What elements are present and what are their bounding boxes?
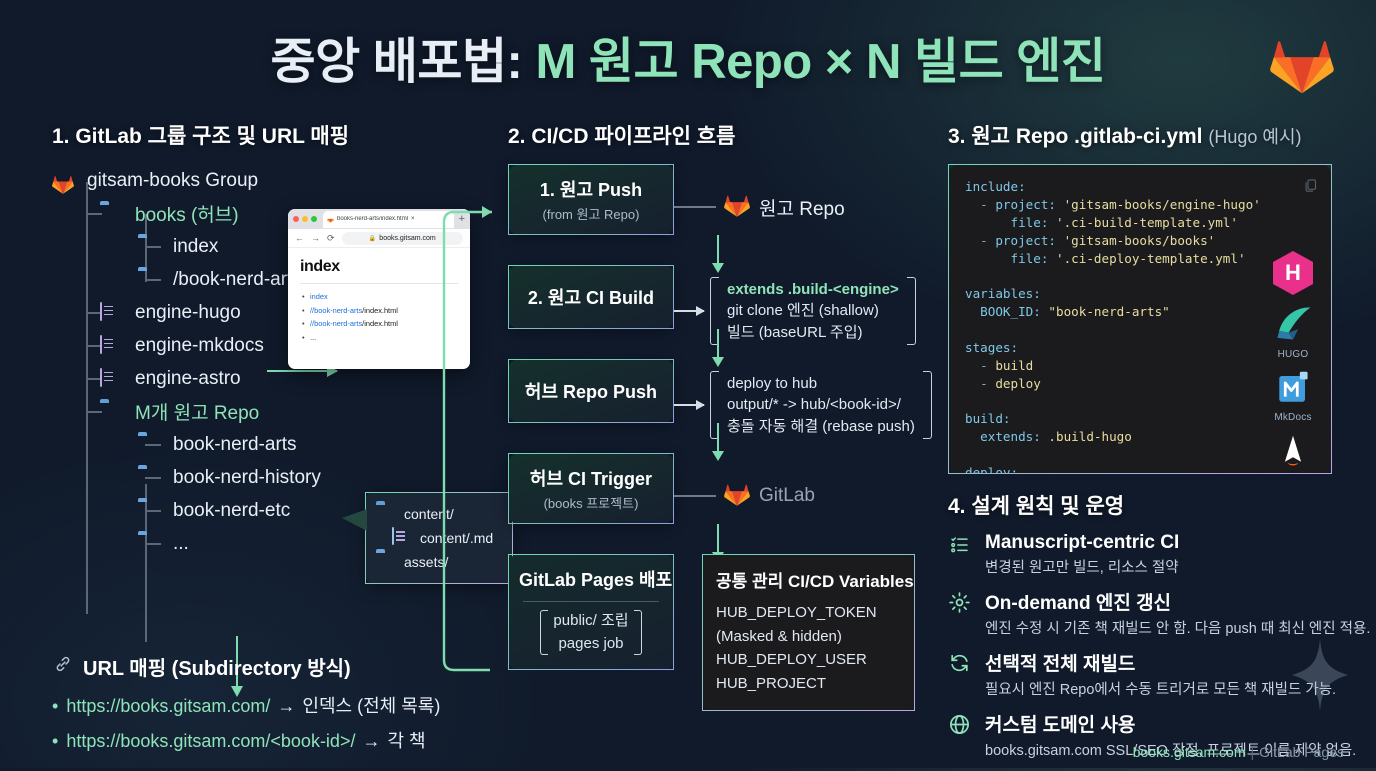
infographic-page: 중앙 배포법: M 원고 Repo × N 빌드 엔진 1. GitLab 그룹…	[0, 0, 1376, 768]
tree-label-manuscript-repos: M개 원고 Repo	[135, 398, 259, 425]
bracket-right	[923, 371, 932, 439]
url-value[interactable]: https://books.gitsam.com/<book-id>/	[66, 731, 355, 752]
principle-row: Manuscript-centric CI 변경된 원고만 빌드, 리소스 절약	[948, 532, 1344, 577]
pipeline-step-4-wrap: 허브 CI Trigger (books 프로젝트) GitLab	[508, 453, 928, 524]
folder-open-icon	[376, 503, 398, 525]
principle-text: 선택적 전체 재빌드 필요시 엔진 Repo에서 수동 트리거로 모든 책 재빌…	[985, 649, 1336, 699]
step-2-side: extends .build-<engine> git clone 엔진 (sh…	[674, 277, 916, 345]
bracket-right	[907, 277, 916, 345]
tree-row-book-nerd-history[interactable]: book-nerd-history	[52, 461, 492, 494]
tree-label-engine-astro: engine-astro	[135, 368, 241, 390]
file-icon	[100, 335, 126, 357]
gitlab-pages-deploy-box[interactable]: GitLab Pages 배포 public/ 조립 pages job	[508, 554, 674, 670]
pages-line: public/ 조립	[553, 610, 628, 633]
bullet: •	[52, 731, 58, 752]
principle-row: 선택적 전체 재빌드 필요시 엔진 Repo에서 수동 트리거로 모든 책 재빌…	[948, 649, 1344, 699]
gitlab-tanuki-icon	[724, 481, 750, 511]
bracket-lines: extends .build-<engine> git clone 엔진 (sh…	[725, 277, 901, 345]
tree-label-index: index	[173, 236, 218, 258]
pipeline-step-ci-build[interactable]: 2. 원고 CI Build	[508, 265, 674, 329]
pipeline-step-push[interactable]: 1. 원고 Push (from 원고 Repo)	[508, 164, 674, 235]
tree-label-engine-mkdocs: engine-mkdocs	[135, 335, 264, 357]
pipeline-step-hub-trigger[interactable]: 허브 CI Trigger (books 프로젝트)	[508, 453, 674, 524]
footer-product: GitLab Pages	[1259, 744, 1344, 760]
copy-icon[interactable]	[1303, 177, 1318, 199]
side-arrow	[674, 404, 704, 406]
footer: books.gitsam.com|GitLab Pages	[1133, 744, 1344, 760]
tree-label-books: books (허브)	[135, 200, 239, 227]
bracket-right	[634, 610, 642, 655]
variable-line: (Masked & hidden)	[716, 625, 901, 649]
file-icon	[100, 302, 126, 324]
pipeline-connector	[717, 423, 719, 453]
url-mapping-heading-row: URL 매핑 (Subdirectory 방식)	[52, 652, 492, 681]
yaml-code: include: - project: 'gitsam-books/engine…	[965, 178, 1315, 474]
variable-line: HUB_DEPLOY_TOKEN	[716, 601, 901, 625]
hugo-label: HUGO	[1265, 349, 1321, 360]
connector-stub	[674, 206, 716, 208]
hugo-logo-icon: HUGO	[1265, 305, 1321, 360]
pipeline-connector	[717, 329, 719, 359]
connector-stub	[674, 495, 716, 497]
link-rest: /index.html	[362, 306, 398, 315]
url-value[interactable]: https://books.gitsam.com/	[66, 696, 270, 717]
forward-icon[interactable]: →	[311, 233, 320, 243]
link-text: index	[310, 292, 328, 301]
cicd-variables-box[interactable]: 공통 관리 CI/CD Variables HUB_DEPLOY_TOKEN (…	[702, 554, 915, 711]
section-2-heading: 2. CI/CD 파이프라인 흐름	[508, 120, 928, 150]
step-1-side: 원고 Repo	[674, 192, 845, 222]
header: 중앙 배포법: M 원고 Repo × N 빌드 엔진	[0, 18, 1376, 106]
bracket-left	[540, 610, 548, 655]
engine-icon-stack: H HUGO MkDocs	[1265, 251, 1321, 474]
arrow-glyph: →	[277, 696, 295, 717]
folder-icon	[376, 551, 398, 573]
folder-icon	[138, 434, 164, 456]
bracket-line: git clone 엔진 (shallow)	[727, 300, 899, 321]
section-3-heading-main: 3. 원고 Repo .gitlab-ci.yml	[948, 125, 1203, 148]
principle-row: On-demand 엔진 갱신 엔진 수정 시 기존 책 재빌드 안 함. 다음…	[948, 588, 1344, 638]
step-subtitle: (books 프로젝트)	[517, 493, 665, 512]
divider	[523, 601, 659, 602]
mkdocs-logo-icon: MkDocs	[1265, 370, 1321, 423]
gitlab-tanuki-icon	[724, 192, 750, 222]
reload-icon[interactable]: ⟳	[327, 233, 335, 244]
arrow-books-to-browser	[267, 370, 337, 372]
section-4-principles: 4. 설계 원칙 및 운영 Manuscript-centric CI 변경된 …	[948, 490, 1344, 760]
section-3-heading: 3. 원고 Repo .gitlab-ci.yml (Hugo 예시)	[948, 120, 1344, 150]
folder-icon	[100, 203, 126, 225]
step-3-side: deploy to hub output/* -> hub/<book-id>/…	[674, 371, 932, 439]
lock-icon: 🔒	[369, 235, 376, 242]
close-icon[interactable]: ×	[411, 216, 415, 222]
link-text: //book-nerd-arts	[310, 319, 362, 328]
side-arrow	[674, 310, 704, 312]
tree-label-book-nerd-etc: book-nerd-etc	[173, 500, 290, 522]
link-icon	[52, 655, 74, 679]
footer-domain: books.gitsam.com	[1133, 744, 1246, 760]
step-subtitle: (from 원고 Repo)	[517, 204, 665, 223]
section-2-pipeline: 2. CI/CD 파이프라인 흐름 1. 원고 Push (from 원고 Re…	[508, 120, 928, 670]
back-icon[interactable]: ←	[295, 233, 304, 243]
window-dots	[293, 216, 317, 222]
section-3-heading-sub: (Hugo 예시)	[1208, 127, 1301, 147]
hugo-hex-glyph: H	[1273, 251, 1313, 295]
url-mapping-item: • https://books.gitsam.com/<book-id>/ → …	[52, 727, 492, 753]
pages-bracket-lines: public/ 조립 pages job	[553, 610, 628, 655]
astro-logo-icon	[1265, 433, 1321, 474]
pages-line: pages job	[553, 633, 628, 656]
file-icon	[100, 368, 126, 390]
bracket-lines: deploy to hub output/* -> hub/<book-id>/…	[725, 371, 917, 439]
folder-icon	[138, 236, 164, 258]
folder-open-icon	[100, 401, 126, 423]
tree-row-book-nerd-arts[interactable]: book-nerd-arts	[52, 428, 492, 461]
pipeline-final-row: GitLab Pages 배포 public/ 조립 pages job 공통 …	[508, 554, 928, 670]
pipeline-step-hub-push[interactable]: 허브 Repo Push	[508, 359, 674, 423]
step-4-side-label: GitLab	[759, 485, 815, 507]
tree-label-book-nerd-arts: book-nerd-arts	[173, 434, 297, 456]
tree-label-book-nerd-arts-hub: /book-nerd-arts	[173, 269, 302, 291]
arrow-glyph: →	[362, 731, 380, 752]
url-mapping-block: URL 매핑 (Subdirectory 방식) • https://books…	[52, 652, 492, 762]
gitlab-tanuki-icon	[1270, 32, 1334, 94]
pipeline-connector	[717, 524, 719, 554]
folder-icon	[138, 269, 164, 291]
mkdocs-label: MkDocs	[1265, 412, 1321, 423]
hugo-hex-icon: H	[1265, 251, 1321, 295]
principle-text: On-demand 엔진 갱신 엔진 수정 시 기존 책 재빌드 안 함. 다음…	[985, 588, 1370, 638]
gitlab-tanuki-icon	[52, 170, 78, 192]
principle-desc: 필요시 엔진 Repo에서 수동 트리거로 모든 책 재빌드 가능.	[985, 678, 1336, 699]
folder-icon	[138, 467, 164, 489]
folder-icon	[138, 500, 164, 522]
browser-tab-title: books-nerd-arts/index.html	[337, 216, 408, 222]
link-text: ...	[310, 333, 316, 342]
step-title: 1. 원고 Push	[517, 176, 665, 202]
sparkle-decoration	[1292, 639, 1348, 716]
url-desc: 인덱스 (전체 목록)	[302, 692, 440, 718]
footer-separator: |	[1251, 744, 1255, 760]
globe-icon	[948, 710, 974, 760]
link-text: //book-nerd-arts	[310, 306, 362, 315]
principle-title: On-demand 엔진 갱신	[985, 588, 1370, 615]
principle-title: Manuscript-centric CI	[985, 532, 1179, 554]
principle-desc: 엔진 수정 시 기존 책 재빌드 안 함. 다음 push 때 최신 엔진 적용…	[985, 617, 1370, 638]
principle-title: 선택적 전체 재빌드	[985, 649, 1336, 676]
step-title: 허브 Repo Push	[517, 378, 665, 404]
pipeline-connector	[717, 235, 719, 265]
bracket-line: 충돌 자동 해결 (rebase push)	[727, 416, 915, 437]
tree-label-more: ...	[173, 533, 189, 555]
url-desc: 각 책	[387, 727, 425, 753]
tree-row-group[interactable]: gitsam-books Group	[52, 164, 492, 197]
bracket-group: deploy to hub output/* -> hub/<book-id>/…	[710, 371, 932, 439]
folder-icon	[138, 533, 164, 555]
step-title: 허브 CI Trigger	[517, 465, 665, 491]
callout-tail	[342, 509, 367, 531]
title-plain: 중앙 배포법:	[271, 35, 536, 89]
variables-box-title: 공통 관리 CI/CD Variables	[716, 567, 901, 592]
variable-line: HUB_PROJECT	[716, 672, 901, 696]
tree-label-engine-hugo: engine-hugo	[135, 302, 241, 324]
page-title: 중앙 배포법: M 원고 Repo × N 빌드 엔진	[0, 18, 1376, 106]
bullet: •	[52, 696, 58, 717]
bracket-group: extends .build-<engine> git clone 엔진 (sh…	[710, 277, 916, 345]
pipeline-step-3-wrap: 허브 Repo Push deploy to hub output/* -> h…	[508, 359, 928, 423]
list-check-icon	[948, 532, 974, 577]
step-4-side: GitLab	[674, 481, 815, 511]
pipeline-flow: 1. 원고 Push (from 원고 Repo) 원고 Repo 2. 원고 …	[508, 164, 928, 670]
bracket-line: 빌드 (baseURL 주입)	[727, 322, 899, 343]
tree-label-book-nerd-history: book-nerd-history	[173, 467, 321, 489]
section-1-heading: 1. GitLab 그룹 구조 및 URL 매핑	[52, 120, 492, 150]
section-1-group-structure: 1. GitLab 그룹 구조 및 URL 매핑 gitsam-books Gr…	[52, 120, 492, 634]
feedback-loop-connector	[430, 180, 520, 680]
yaml-code-block[interactable]: include: - project: 'gitsam-books/engine…	[948, 164, 1332, 474]
title-accent: M 원고 Repo × N 빌드 엔진	[535, 35, 1105, 89]
step-title: 2. 원고 CI Build	[517, 284, 665, 310]
gear-icon	[948, 588, 974, 638]
pages-box-title: GitLab Pages 배포	[519, 566, 663, 592]
pipeline-step-1-wrap: 1. 원고 Push (from 원고 Repo) 원고 Repo	[508, 164, 928, 235]
address-bar-url: books.gitsam.com	[379, 235, 435, 242]
pages-bracket: public/ 조립 pages job	[519, 610, 663, 655]
bracket-line: extends .build-<engine>	[727, 279, 899, 300]
variable-line: HUB_DEPLOY_USER	[716, 648, 901, 672]
refresh-icon	[948, 649, 974, 699]
principle-desc: 변경된 원고만 빌드, 리소스 절약	[985, 556, 1179, 577]
step-1-side-label: 원고 Repo	[759, 194, 845, 221]
url-mapping-item: • https://books.gitsam.com/ → 인덱스 (전체 목록…	[52, 692, 492, 718]
bracket-line: deploy to hub	[727, 373, 915, 394]
section-4-heading: 4. 설계 원칙 및 운영	[948, 490, 1344, 520]
principle-text: Manuscript-centric CI 변경된 원고만 빌드, 리소스 절약	[985, 532, 1179, 577]
pipeline-step-2-wrap: 2. 원고 CI Build extends .build-<engine> g…	[508, 265, 928, 329]
section-3-yaml: 3. 원고 Repo .gitlab-ci.yml (Hugo 예시) incl…	[948, 120, 1344, 771]
file-icon	[392, 527, 414, 549]
tree-label-group: gitsam-books Group	[87, 170, 258, 192]
repo-tree: gitsam-books Group books (허브) index /boo…	[52, 164, 492, 634]
link-rest: /index.html	[362, 319, 398, 328]
url-mapping-heading: URL 매핑 (Subdirectory 방식)	[83, 652, 351, 681]
tree-row-manuscript-repos[interactable]: M개 원고 Repo	[52, 395, 492, 428]
bracket-line: output/* -> hub/<book-id>/	[727, 394, 915, 415]
